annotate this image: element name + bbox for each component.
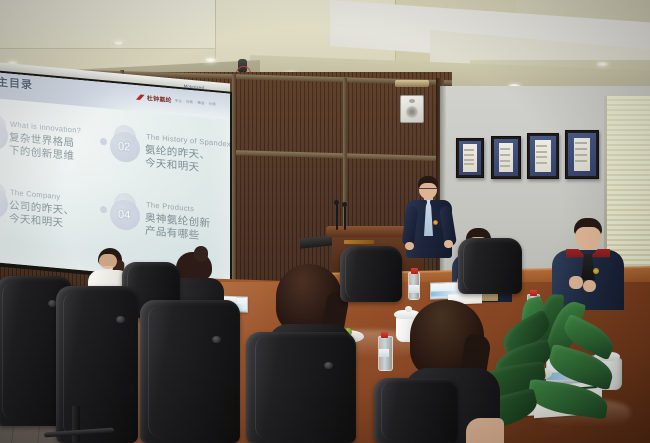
bottle-label (409, 285, 419, 293)
chair-adjust-knob[interactable] (324, 362, 333, 369)
framed-certificate (456, 138, 484, 178)
speaker-tweeter-icon (409, 99, 415, 103)
ceiling-panel-left (0, 0, 215, 49)
office-chair-foreground[interactable] (140, 300, 240, 443)
office-chair[interactable] (458, 238, 522, 294)
office-chair-foreground[interactable] (56, 286, 138, 443)
certificate-document (463, 144, 477, 171)
framed-certificate (565, 130, 599, 179)
chair-seam (345, 248, 398, 300)
downlight-icon (112, 41, 125, 46)
slide-title: 主目录 (0, 73, 33, 92)
attendee-jacket-logo-icon (593, 268, 599, 274)
wall-light-fixture (395, 80, 429, 87)
chair-adjust-knob[interactable] (116, 316, 125, 323)
bottle-cap (411, 268, 418, 274)
conference-room-photo: Motorized 主目录 杜钟氨纶 专业 · 创新 · 精益 · 价值 01 … (0, 0, 650, 443)
chair-adjust-knob[interactable] (212, 336, 221, 343)
podium-microphone (336, 204, 338, 230)
chair-seam (463, 240, 518, 292)
toc-circle-small (100, 138, 107, 146)
downlight-icon (596, 62, 609, 67)
framed-certificate (491, 136, 521, 179)
office-chair-foreground[interactable] (246, 332, 356, 443)
bottle-cap (381, 332, 388, 338)
framed-certificate (527, 133, 559, 179)
bottle-cap (530, 290, 537, 296)
podium-control-panel (344, 240, 374, 244)
certificate-document (535, 140, 551, 172)
logo-mark-icon (136, 94, 145, 101)
chair-seam (148, 306, 233, 438)
podium-microphone-head-icon (342, 202, 347, 207)
water-bottle (378, 336, 393, 371)
office-chair-foreground[interactable] (374, 378, 458, 443)
toc-circle-small (100, 206, 107, 214)
toc-number: 04 (118, 208, 130, 221)
chair-seam (255, 336, 348, 438)
presenter-glasses-icon (419, 188, 437, 192)
presenter-hand-left (405, 242, 414, 250)
certificate-document (499, 143, 514, 173)
attendee-hand (583, 280, 596, 292)
potted-plant (488, 300, 638, 443)
toc-number: 02 (118, 140, 130, 153)
chair-seam (381, 381, 453, 441)
wall-speaker (400, 95, 424, 123)
podium-microphone (344, 206, 346, 230)
attendee-arm (466, 418, 504, 443)
speaker-cone-icon (406, 106, 418, 118)
water-bottle (408, 272, 420, 300)
attendee-hand (569, 276, 583, 289)
bottle-label (379, 349, 389, 357)
podium-microphone-head-icon (334, 200, 339, 205)
presenter (404, 176, 456, 276)
presenter-lapel-pin-icon (433, 220, 438, 225)
downlight-icon (204, 58, 217, 63)
logo-tagline: 专业 · 创新 · 精益 · 价值 (175, 98, 216, 107)
attendee-ponytail (194, 246, 208, 262)
chair-post (72, 406, 80, 442)
office-chair[interactable] (340, 246, 402, 302)
wall-mullion-vertical (232, 74, 236, 296)
attendee-face (99, 254, 117, 269)
certificate-document (574, 138, 591, 172)
